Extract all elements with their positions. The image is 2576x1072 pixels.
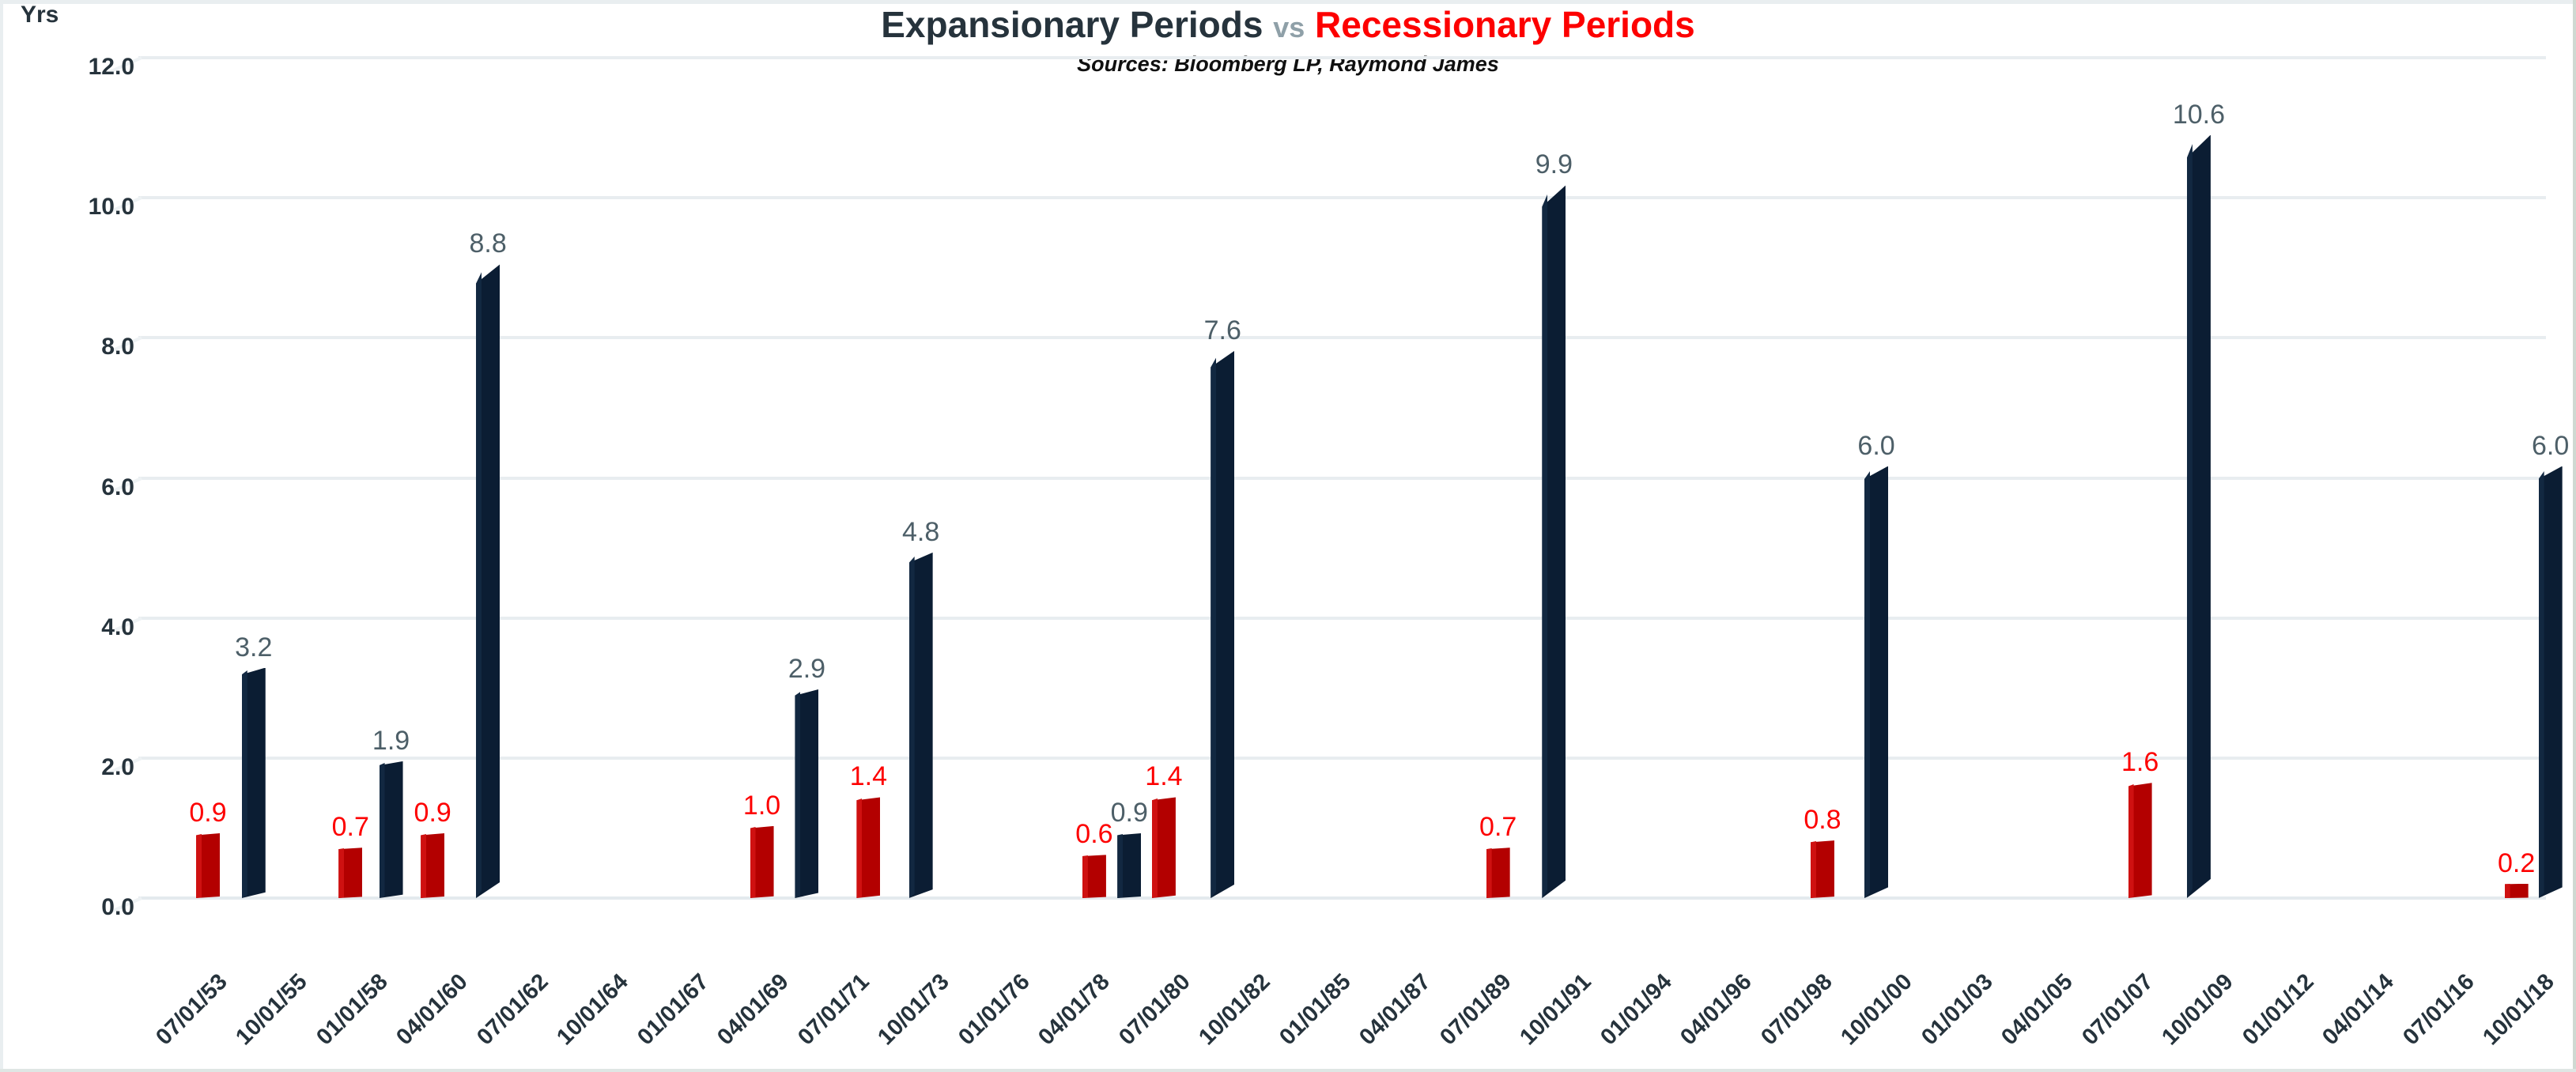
x-axis-tick-label: 10/01/73: [874, 969, 955, 1051]
recessionary-bar-value-label: 1.6: [2121, 747, 2159, 778]
x-axis-tick-label: 10/01/09: [2158, 969, 2239, 1051]
expansionary-bar[interactable]: [1211, 351, 1234, 898]
frame-right-edge: [2573, 0, 2576, 1072]
bar-side-face: [1211, 351, 1216, 898]
y-axis-tick-label: 6.0: [16, 474, 134, 501]
bar-side-face: [2128, 783, 2134, 898]
expansionary-bar[interactable]: [1864, 466, 1888, 899]
recessionary-bar[interactable]: [750, 826, 774, 898]
x-axis-tick-label: 01/01/67: [633, 969, 714, 1051]
x-axis-tick-label: 07/01/80: [1114, 969, 1195, 1051]
x-axis-tick-label: 04/01/60: [392, 969, 474, 1051]
recessionary-bar-value-label: 0.7: [1479, 812, 1517, 843]
x-axis-tick-label: 10/01/64: [553, 969, 634, 1051]
bar-side-face: [421, 833, 426, 898]
x-axis-tick-label: 07/01/53: [151, 969, 232, 1051]
expansionary-bar[interactable]: [1542, 185, 1566, 898]
x-axis-tick-label: 01/01/58: [312, 969, 393, 1051]
x-axis-tick-label: 10/01/91: [1516, 969, 1597, 1051]
bar-side-face: [1811, 840, 1816, 898]
x-axis-labels: 07/01/5310/01/5501/01/5804/01/6007/01/62…: [138, 906, 2546, 1072]
x-axis-tick-label: 04/01/78: [1034, 969, 1116, 1051]
expansionary-bar[interactable]: [380, 761, 403, 898]
x-axis-tick-label: 07/01/62: [472, 969, 553, 1051]
bar-side-face: [856, 797, 862, 898]
bar-side-face: [1082, 855, 1088, 898]
recessionary-bar-value-label: 0.2: [2498, 848, 2535, 879]
expansionary-bar-value-label: 3.2: [235, 632, 272, 663]
x-axis-tick-label: 01/01/85: [1275, 969, 1356, 1051]
x-axis-tick-label: 04/01/87: [1355, 969, 1437, 1051]
recessionary-bar[interactable]: [1082, 855, 1106, 898]
expansionary-bar[interactable]: [909, 553, 933, 898]
frame-top-edge: [0, 0, 2576, 4]
x-axis-tick-label: 07/01/98: [1756, 969, 1838, 1051]
bar-side-face: [196, 833, 202, 898]
expansionary-bar-value-label: 6.0: [1857, 431, 1894, 462]
y-axis-tick-label: 0.0: [16, 894, 134, 921]
bar-side-face: [380, 761, 385, 898]
bar-side-face: [909, 553, 915, 898]
y-axis-tick-label: 8.0: [16, 334, 134, 360]
x-axis-tick-label: 04/01/69: [713, 969, 795, 1051]
bar-side-face: [338, 847, 344, 898]
x-axis-tick-label: 10/01/55: [232, 969, 313, 1051]
recessionary-bar-value-label: 1.4: [1145, 761, 1182, 792]
expansionary-bar-value-label: 0.9: [1111, 798, 1148, 829]
x-axis-tick-label: 01/01/03: [1917, 969, 1998, 1051]
recessionary-bar[interactable]: [338, 847, 362, 898]
x-axis-tick-label: 07/01/71: [793, 969, 874, 1051]
expansionary-bar-value-label: 4.8: [902, 517, 939, 548]
expansionary-bar[interactable]: [795, 689, 818, 898]
recessionary-bar[interactable]: [1486, 847, 1510, 898]
bar-side-face: [1486, 847, 1492, 898]
x-axis-tick-label: 04/01/96: [1676, 969, 1758, 1051]
x-axis-tick-label: 04/01/05: [1997, 969, 2079, 1051]
y-axis-tick-label: 10.0: [16, 194, 134, 221]
bar-side-face: [1864, 466, 1870, 899]
recessionary-bar[interactable]: [196, 833, 220, 898]
y-axis-tick-label: 2.0: [16, 754, 134, 781]
x-axis-tick-label: 01/01/94: [1596, 969, 1677, 1051]
x-axis-tick-label: 07/01/07: [2077, 969, 2159, 1051]
bar-side-face: [2505, 884, 2510, 898]
y-axis-tick-label: 12.0: [16, 54, 134, 81]
bar-side-face: [476, 264, 482, 898]
recessionary-bar-value-label: 0.9: [414, 798, 451, 829]
y-axis-tick-label: 4.0: [16, 614, 134, 641]
expansionary-bar-value-label: 10.6: [2173, 100, 2225, 130]
recessionary-bar[interactable]: [1152, 797, 1176, 898]
bar-side-face: [1542, 185, 1547, 898]
recessionary-bar[interactable]: [2128, 783, 2152, 898]
expansionary-bar[interactable]: [2539, 466, 2563, 899]
expansionary-bar[interactable]: [242, 668, 266, 898]
bar-side-face: [242, 668, 247, 898]
bar-side-face: [2187, 135, 2193, 898]
bar-side-face: [750, 826, 756, 898]
recessionary-bar[interactable]: [421, 833, 444, 898]
bar-side-face: [2539, 466, 2544, 899]
x-axis-tick-label: 04/01/14: [2318, 969, 2400, 1051]
bar-side-face: [795, 689, 800, 898]
expansionary-bar-value-label: 6.0: [2532, 431, 2569, 462]
recessionary-bar-value-label: 0.6: [1075, 819, 1112, 850]
expansionary-bar[interactable]: [2187, 135, 2211, 898]
x-axis-tick-label: 10/01/18: [2479, 969, 2560, 1051]
expansionary-bar[interactable]: [1117, 833, 1141, 898]
bar-side-face: [1152, 797, 1158, 898]
recessionary-bar-value-label: 1.0: [743, 791, 780, 821]
x-axis-tick-label: 07/01/16: [2398, 969, 2480, 1051]
recessionary-bar[interactable]: [1811, 840, 1834, 898]
recessionary-bar[interactable]: [2505, 884, 2529, 898]
chart-root: Expansionary Periods vs Recessionary Per…: [0, 0, 2576, 1072]
expansionary-bar-value-label: 1.9: [372, 726, 410, 757]
recessionary-bar[interactable]: [856, 797, 880, 898]
bars-layer: 0.90.70.91.01.40.61.40.70.81.60.23.21.98…: [138, 26, 2546, 900]
expansionary-bar-value-label: 2.9: [788, 654, 825, 685]
expansionary-bar-value-label: 9.9: [1535, 149, 1573, 180]
expansionary-bar[interactable]: [476, 264, 500, 898]
frame-left-edge: [0, 0, 3, 1072]
expansionary-bar-value-label: 8.8: [469, 228, 506, 259]
recessionary-bar-value-label: 1.4: [850, 761, 887, 792]
x-axis-tick-label: 10/01/82: [1195, 969, 1276, 1051]
x-axis-tick-label: 01/01/12: [2238, 969, 2319, 1051]
x-axis-tick-label: 01/01/76: [954, 969, 1035, 1051]
recessionary-bar-value-label: 0.9: [189, 798, 226, 829]
x-axis-tick-label: 10/01/00: [1837, 969, 1918, 1051]
plot-area: 0.90.70.91.01.40.61.40.70.81.60.23.21.98…: [138, 26, 2546, 900]
bar-side-face: [1117, 833, 1123, 898]
y-axis-unit-label: Yrs: [21, 2, 59, 28]
x-axis-tick-label: 07/01/89: [1435, 969, 1517, 1051]
recessionary-bar-value-label: 0.8: [1804, 805, 1841, 836]
expansionary-bar-value-label: 7.6: [1204, 315, 1241, 346]
y-axis-labels: 0.02.04.06.08.010.012.0: [8, 26, 134, 900]
recessionary-bar-value-label: 0.7: [332, 812, 369, 843]
